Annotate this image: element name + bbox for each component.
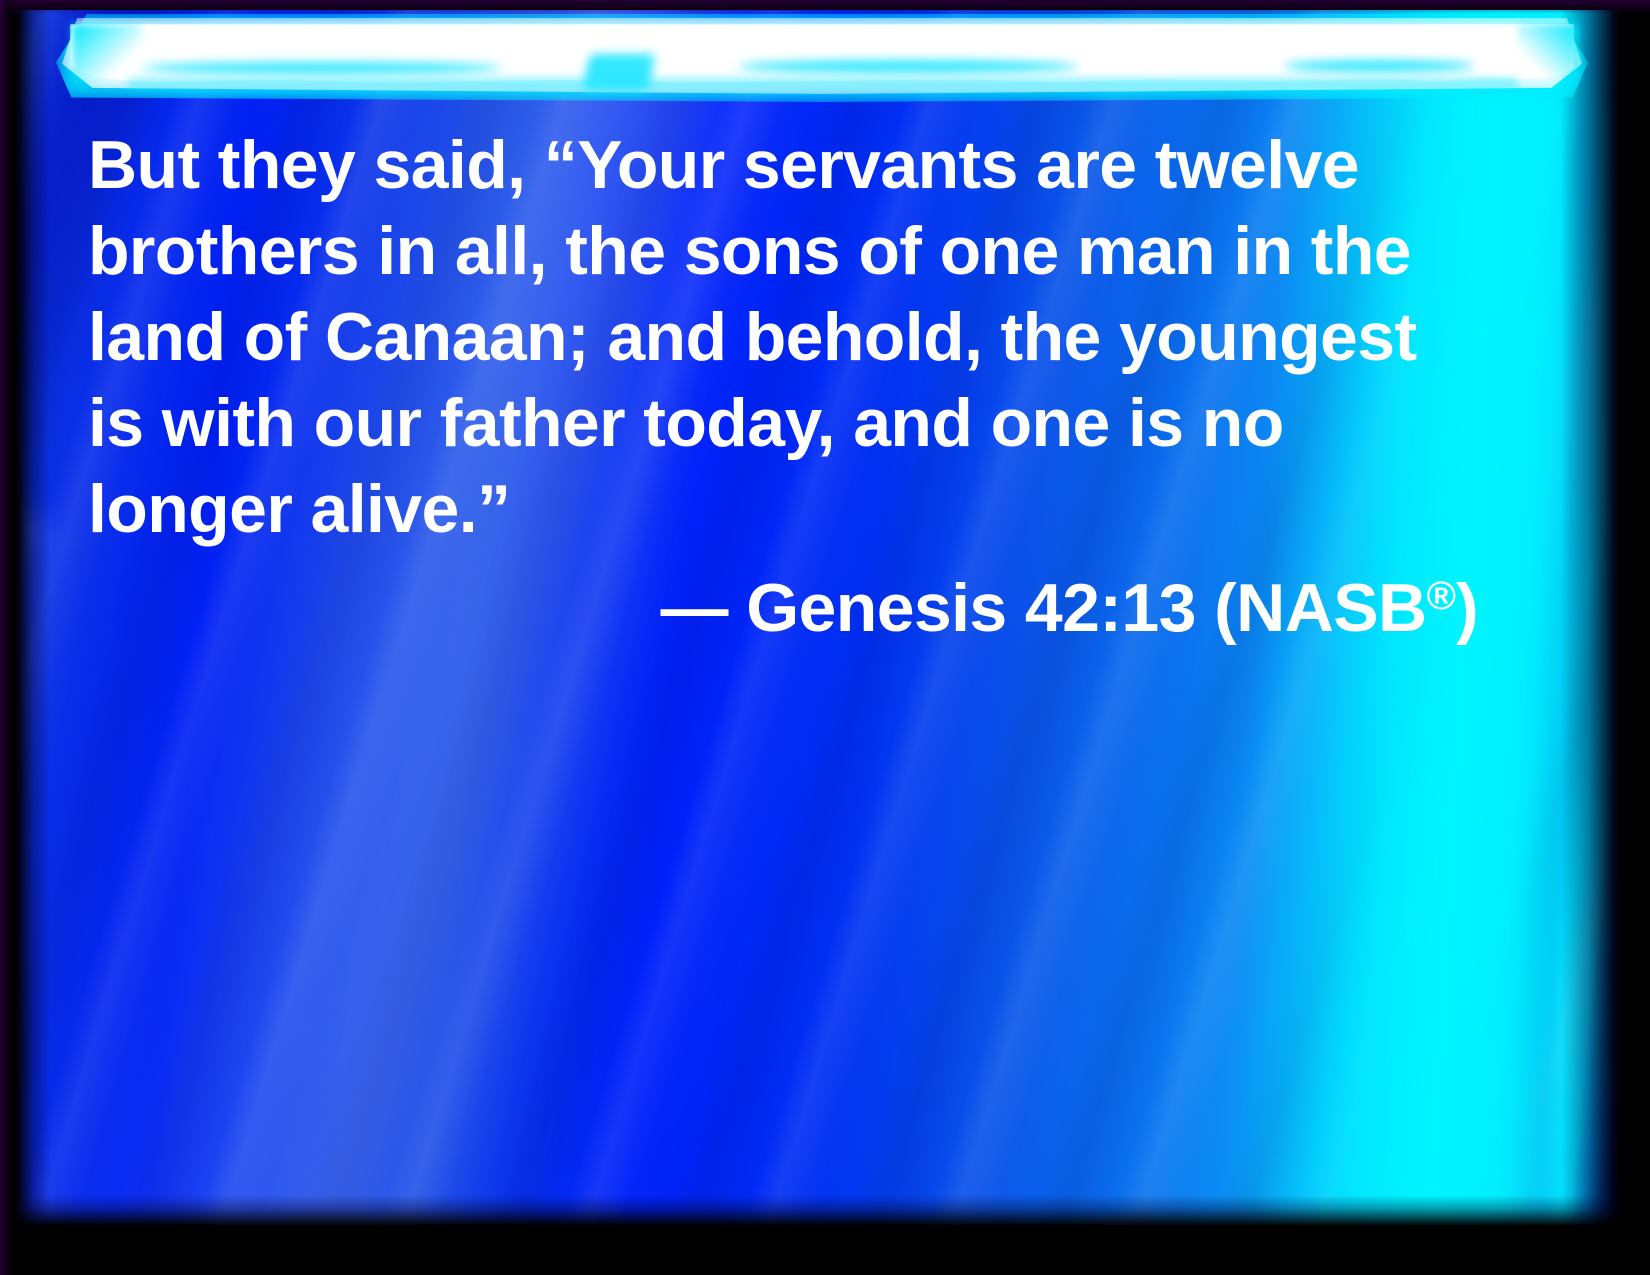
scripture-slide: But they said, “Your servants are twelve… bbox=[0, 0, 1650, 1275]
slide-stage: But they said, “Your servants are twelve… bbox=[16, 10, 1621, 1225]
slide-text-layer: But they said, “Your servants are twelve… bbox=[16, 10, 1621, 1225]
citation-prefix: — Genesis 42:13 (NASB bbox=[661, 570, 1427, 646]
verse-citation: — Genesis 42:13 (NASB®) bbox=[88, 553, 1478, 651]
citation-suffix: ) bbox=[1456, 570, 1478, 646]
verse-text: But they said, “Your servants are twelve… bbox=[88, 122, 1478, 552]
registered-trademark-icon: ® bbox=[1426, 574, 1455, 618]
